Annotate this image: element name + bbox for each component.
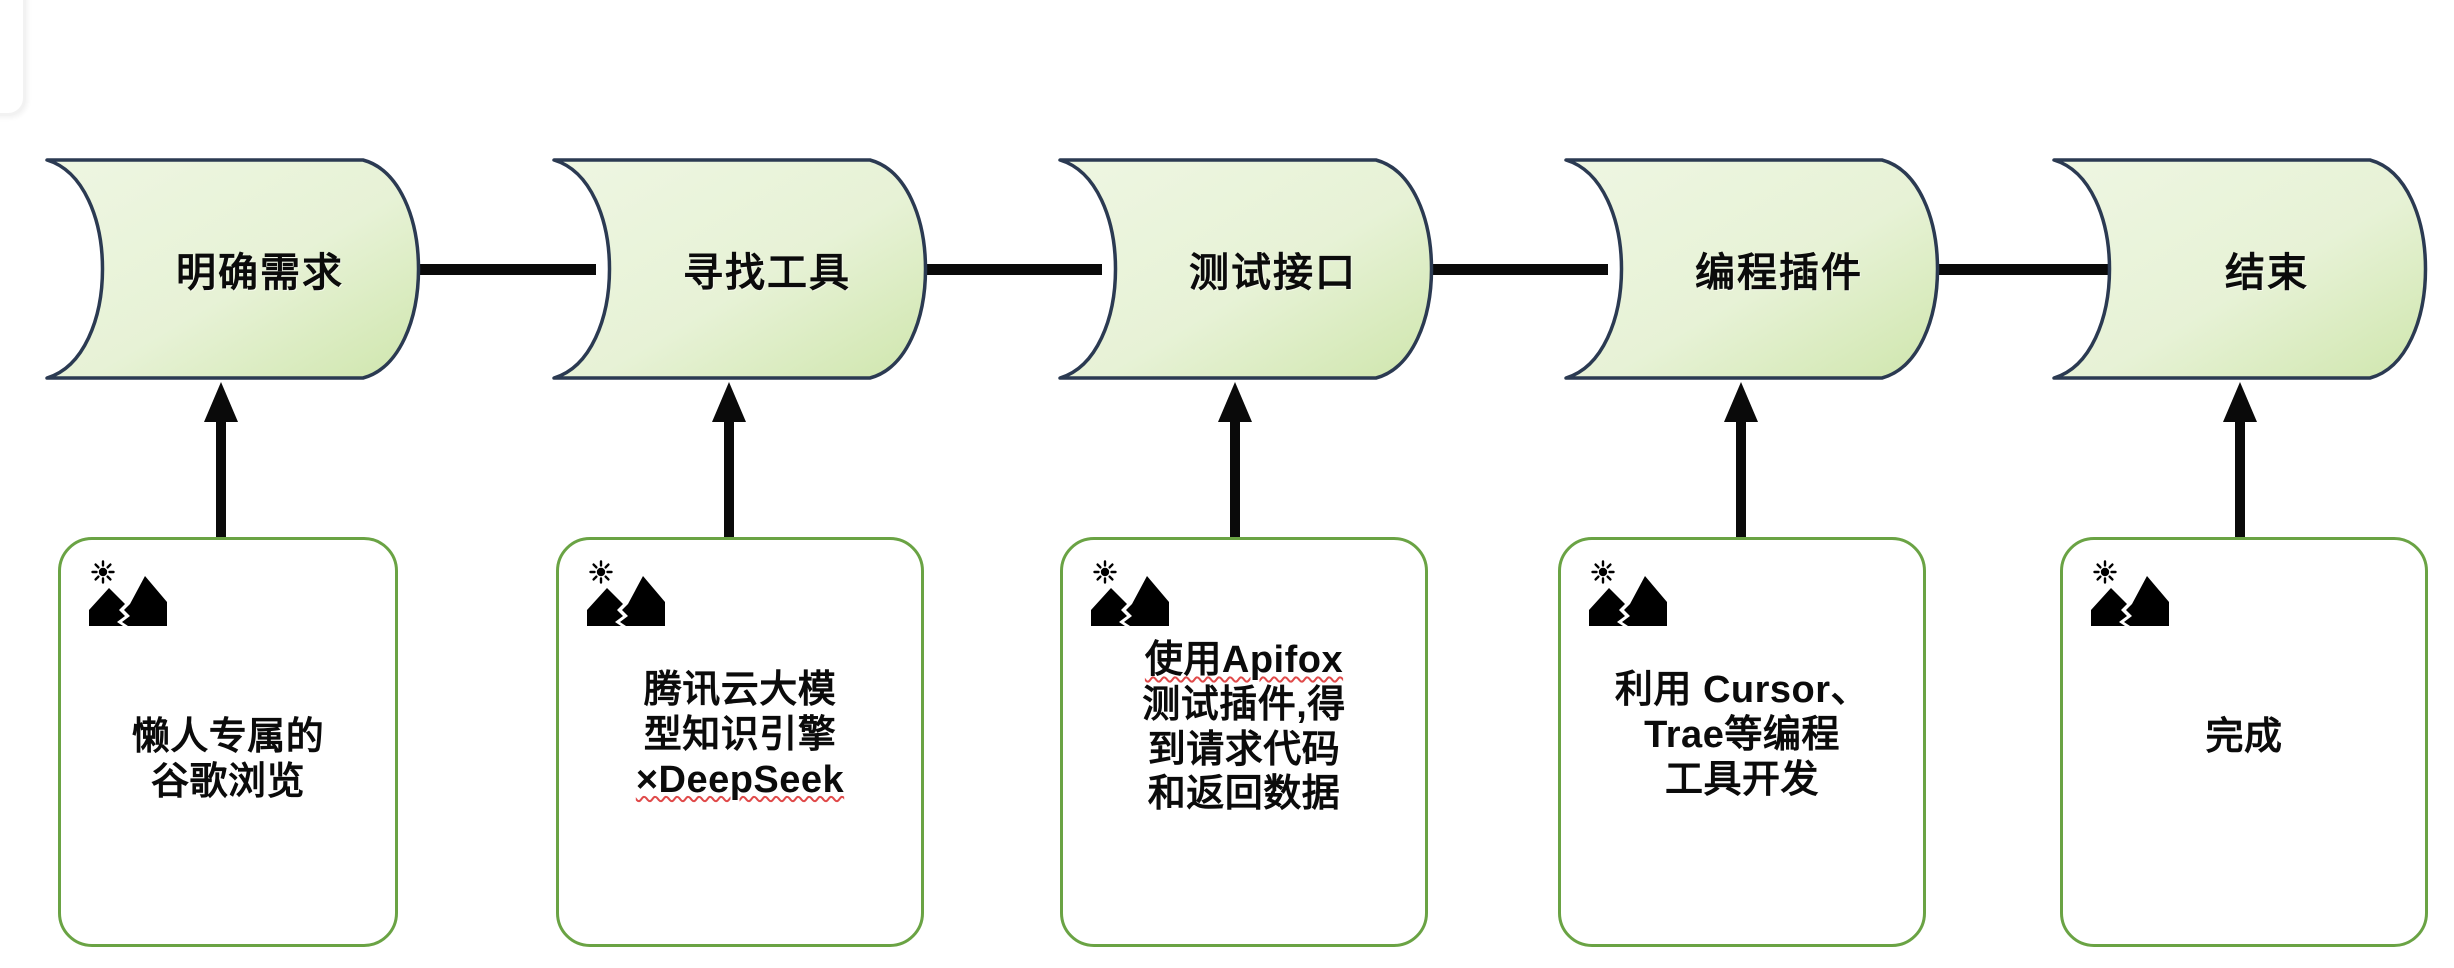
diagram-canvas: 明确需求寻找工具测试接口编程插件结束 懒人专属的谷歌浏览腾讯云大模型知识引擎×D…: [0, 0, 2454, 968]
flow-node-shape: [1060, 160, 1432, 378]
arrow-head-up-icon: [1724, 382, 1758, 422]
broken-image-icon: [1089, 560, 1173, 632]
detail-card-text: 懒人专属的谷歌浏览: [61, 715, 395, 805]
detail-card-line: 利用 Cursor、: [1569, 668, 1915, 713]
arrow-shaft: [2235, 418, 2245, 538]
arrow-shaft: [724, 418, 734, 538]
detail-card-3[interactable]: 使用Apifox测试插件,得到请求代码和返回数据: [1060, 537, 1428, 947]
broken-image-icon: [2089, 560, 2173, 632]
broken-image-icon: [87, 560, 171, 632]
broken-image-icon: [1587, 560, 1671, 632]
detail-card-text: 腾讯云大模型知识引擎×DeepSeek: [559, 668, 921, 802]
detail-card-line: 和返回数据: [1071, 772, 1417, 817]
flow-node-2[interactable]: 寻找工具: [552, 158, 948, 380]
arrow-shaft: [1736, 418, 1746, 538]
card-to-node-arrow-2: [712, 382, 746, 538]
detail-card-2[interactable]: 腾讯云大模型知识引擎×DeepSeek: [556, 537, 924, 947]
detail-card-line: 谷歌浏览: [69, 760, 387, 805]
card-to-node-arrow-4: [1724, 382, 1758, 538]
background-panel-edge: [0, 0, 26, 116]
flow-node-shape: [1566, 160, 1938, 378]
detail-card-line: 完成: [2071, 715, 2417, 760]
arrow-head-up-icon: [204, 382, 238, 422]
detail-card-text: 完成: [2063, 715, 2425, 760]
detail-card-line: 工具开发: [1569, 758, 1915, 803]
detail-card-line: 测试插件,得: [1071, 683, 1417, 728]
card-to-node-arrow-1: [204, 382, 238, 538]
flow-node-shape: [47, 160, 419, 378]
card-to-node-arrow-3: [1218, 382, 1252, 538]
arrow-head-up-icon: [712, 382, 746, 422]
detail-card-line: 使用Apifox: [1071, 638, 1417, 683]
arrow-shaft: [216, 418, 226, 538]
arrow-head-up-icon: [1218, 382, 1252, 422]
detail-card-line: Trae等编程: [1569, 713, 1915, 758]
detail-card-1[interactable]: 懒人专属的谷歌浏览: [58, 537, 398, 947]
flow-node-5[interactable]: 结束: [2052, 158, 2448, 380]
flow-node-1[interactable]: 明确需求: [45, 158, 441, 380]
detail-card-4[interactable]: 利用 Cursor、Trae等编程工具开发: [1558, 537, 1926, 947]
detail-card-line: 懒人专属的: [69, 715, 387, 760]
broken-image-icon: [585, 560, 669, 632]
spellcheck-underlined-text: 使用Apifox: [1145, 639, 1343, 681]
detail-card-line: ×DeepSeek: [567, 758, 913, 803]
flow-node-shape: [2054, 160, 2426, 378]
flow-node-shape: [554, 160, 926, 378]
detail-card-text: 利用 Cursor、Trae等编程工具开发: [1561, 668, 1923, 802]
detail-card-line: 腾讯云大模: [567, 668, 913, 713]
arrow-head-up-icon: [2223, 382, 2257, 422]
detail-card-5[interactable]: 完成: [2060, 537, 2428, 947]
arrow-shaft: [1230, 418, 1240, 538]
card-to-node-arrow-5: [2223, 382, 2257, 538]
flow-node-4[interactable]: 编程插件: [1564, 158, 1960, 380]
detail-card-line: 型知识引擎: [567, 713, 913, 758]
detail-card-line: 到请求代码: [1071, 728, 1417, 773]
detail-card-text: 使用Apifox测试插件,得到请求代码和返回数据: [1063, 638, 1425, 817]
spellcheck-underlined-text: ×DeepSeek: [636, 759, 844, 801]
flow-node-3[interactable]: 测试接口: [1058, 158, 1454, 380]
